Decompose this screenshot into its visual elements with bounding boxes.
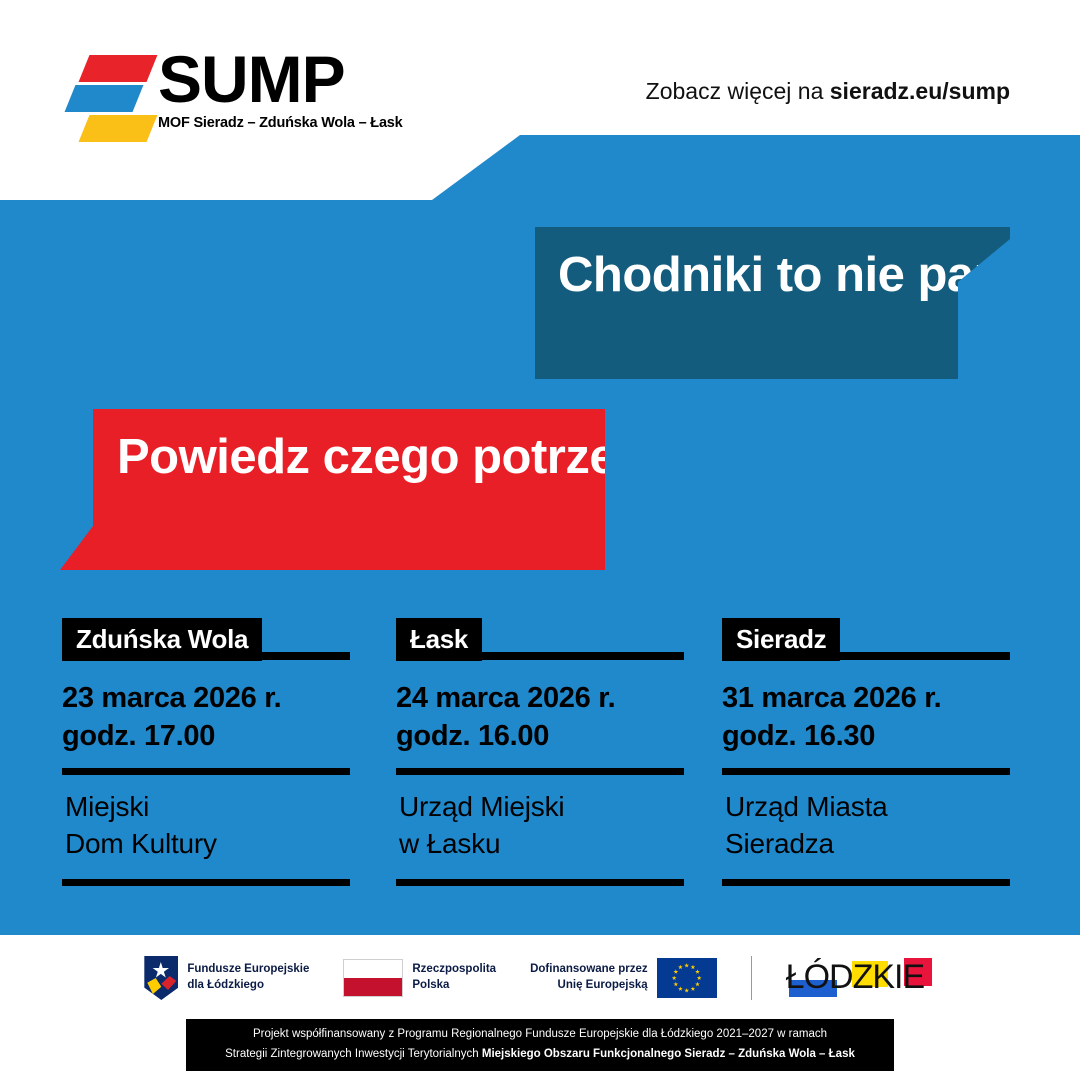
funding-statement-line2-normal: Strategii Zintegrowanych Inwestycji Tery… (225, 1048, 482, 1060)
eu-flag-icon (657, 958, 717, 998)
fundusze-europejskie-icon (144, 956, 178, 1000)
event-bottom-rule (396, 879, 684, 886)
website-link-prefix: Zobacz więcej na (646, 78, 830, 104)
event-card-lask: Łask 24 marca 2026 r. godz. 16.00 Urząd … (396, 618, 684, 886)
eu-star-icon (690, 965, 695, 970)
funding-statement-bar: Projekt współfinansowany z Programu Regi… (186, 1019, 894, 1071)
eu-star-icon (684, 963, 689, 968)
event-divider-rule (722, 768, 1010, 775)
event-datetime: 31 marca 2026 r. godz. 16.30 (722, 679, 1010, 756)
sump-logo[interactable]: SUMP MOF Sieradz – Zduńska Wola – Łask (62, 52, 403, 148)
eu-star-icon (673, 982, 678, 987)
header: SUMP MOF Sieradz – Zduńska Wola – Łask Z… (0, 0, 1080, 200)
eu-star-icon (695, 982, 700, 987)
sump-logo-text: SUMP MOF Sieradz – Zduńska Wola – Łask (158, 48, 403, 131)
logo-label-rzeczpospolita: Rzeczpospolita Polska (412, 962, 496, 993)
eu-star-icon (695, 969, 700, 974)
event-venue: Miejski Dom Kultury (62, 788, 350, 862)
sump-logo-subtitle: MOF Sieradz – Zduńska Wola – Łask (158, 115, 403, 131)
event-divider-rule (396, 768, 684, 775)
event-bottom-rule (722, 879, 1010, 886)
event-datetime: 23 marca 2026 r. godz. 17.00 (62, 679, 350, 756)
logo-rzeczpospolita-polska: Rzeczpospolita Polska (343, 959, 496, 997)
eu-star-icon (678, 965, 683, 970)
event-header: Zduńska Wola (62, 618, 350, 660)
eu-star-icon (684, 988, 689, 993)
eu-star-icon (678, 986, 683, 991)
lodzkie-wordmark: ŁÓDZKIE (786, 954, 936, 1002)
event-venue: Urząd Miejski w Łasku (396, 788, 684, 862)
event-header-rule (62, 652, 350, 660)
funding-statement-line1: Projekt współfinansowany z Programu Regi… (253, 1028, 827, 1040)
eu-star-icon (672, 976, 677, 981)
event-header-rule (722, 652, 1010, 660)
event-datetime: 24 marca 2026 r. godz. 16.00 (396, 679, 684, 756)
eu-star-icon (690, 986, 695, 991)
logo-label-dofinansowane: Dofinansowane przez Unię Europejską (530, 962, 648, 993)
sump-logo-title: SUMP (158, 48, 403, 111)
logo-divider (751, 956, 752, 1000)
funding-statement-line2-bold: Miejskiego Obszaru Funkcjonalnego Sierad… (482, 1048, 855, 1060)
event-card-zdunska-wola: Zduńska Wola 23 marca 2026 r. godz. 17.0… (62, 618, 350, 886)
logo-bar-red (79, 55, 158, 82)
headline-banner-red: Powiedz czego potrzebujesz (60, 409, 605, 570)
event-divider-rule (62, 768, 350, 775)
logo-label-fundusze: Fundusze Europejskie dla Łódzkiego (187, 962, 309, 993)
headline-banner-dark: Chodniki to nie parkingi (535, 227, 1010, 379)
fe-shield-shape (144, 956, 178, 1000)
eu-star-icon (697, 976, 702, 981)
logo-fundusze-europejskie: Fundusze Europejskie dla Łódzkiego (144, 956, 309, 1000)
event-card-sieradz: Sieradz 31 marca 2026 r. godz. 16.30 Urz… (722, 618, 1010, 886)
event-venue: Urząd Miasta Sieradza (722, 788, 1010, 862)
eu-star-icon (673, 969, 678, 974)
funding-statement-text: Projekt współfinansowany z Programu Regi… (225, 1025, 855, 1064)
polish-flag-icon (343, 959, 403, 997)
website-link[interactable]: Zobacz więcej na sieradz.eu/sump (646, 78, 1010, 105)
website-link-url: sieradz.eu/sump (830, 78, 1010, 104)
logo-bar-blue (65, 85, 144, 112)
poster-canvas: SUMP MOF Sieradz – Zduńska Wola – Łask Z… (0, 0, 1080, 1080)
sump-logo-mark-icon (62, 52, 148, 148)
event-header-rule (396, 652, 684, 660)
logo-bar-yellow (79, 115, 158, 142)
event-bottom-rule (62, 879, 350, 886)
event-header: Sieradz (722, 618, 1010, 660)
lodzkie-mark-icon: ŁÓDZKIE (786, 954, 936, 1002)
event-header: Łask (396, 618, 684, 660)
logo-lodzkie: ŁÓDZKIE (786, 954, 936, 1002)
flag-red-band (344, 978, 402, 996)
events-list: Zduńska Wola 23 marca 2026 r. godz. 17.0… (0, 618, 1080, 888)
funding-logos-strip: Fundusze Europejskie dla Łódzkiego Rzecz… (0, 935, 1080, 1021)
logo-dofinansowane-ue: Dofinansowane przez Unię Europejską (530, 958, 717, 998)
flag-white-band (344, 960, 402, 978)
